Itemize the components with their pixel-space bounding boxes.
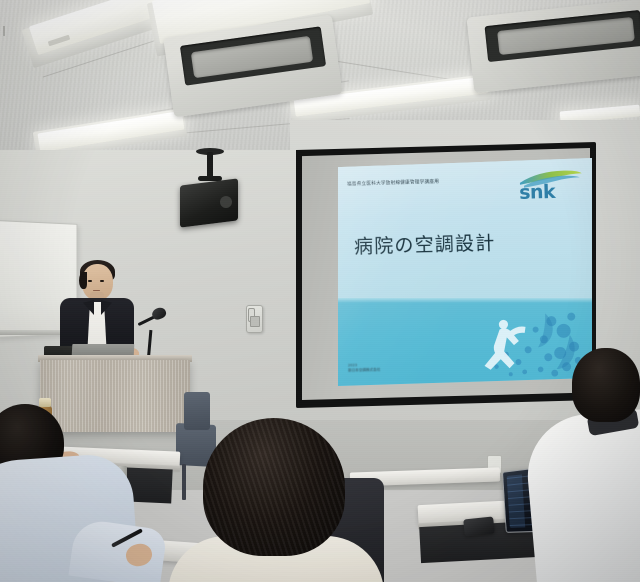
- snk-logo: snk: [518, 169, 585, 201]
- chair-leg: [182, 464, 186, 500]
- presenter-eye-left: [88, 280, 92, 282]
- smartphone-on-desk[interactable]: [463, 516, 495, 536]
- wall-intercom-panel[interactable]: [246, 305, 263, 333]
- attendee-front-center-hair-texture: [203, 418, 345, 556]
- intercom-cord: [3, 26, 5, 36]
- slide-footer-line-2: 新日本空調株式会社: [348, 368, 380, 374]
- slide-title: 病院の空調設計: [354, 228, 496, 259]
- slide-band-highlight: [338, 298, 592, 303]
- projector-lens: [220, 196, 232, 208]
- podium-woodgrain: [40, 360, 190, 432]
- slide-illustration-runner: [459, 304, 581, 385]
- slide-footer: 2023 新日本空調株式会社: [348, 363, 381, 374]
- bottle-cap: [39, 398, 51, 407]
- svg-text:snk: snk: [519, 181, 556, 201]
- attendee-right-hair: [572, 348, 640, 422]
- attendee-front-left-arm: [68, 518, 167, 582]
- chair-podium-side[interactable]: [184, 392, 210, 430]
- lectern: [40, 360, 190, 432]
- intercom-screen: [250, 316, 260, 327]
- presenter-eye-right: [100, 280, 104, 282]
- projector-mount-rod: [207, 152, 213, 178]
- presentation-slide: 福島県立医科大学放射線健康管理学講座用 病院の空調設計 snk 2023 新日本…: [338, 158, 592, 386]
- seminar-room-photo: 福島県立医科大学放射線健康管理学講座用 病院の空調設計 snk 2023 新日本…: [0, 0, 640, 582]
- presenter-hair-side: [79, 272, 87, 289]
